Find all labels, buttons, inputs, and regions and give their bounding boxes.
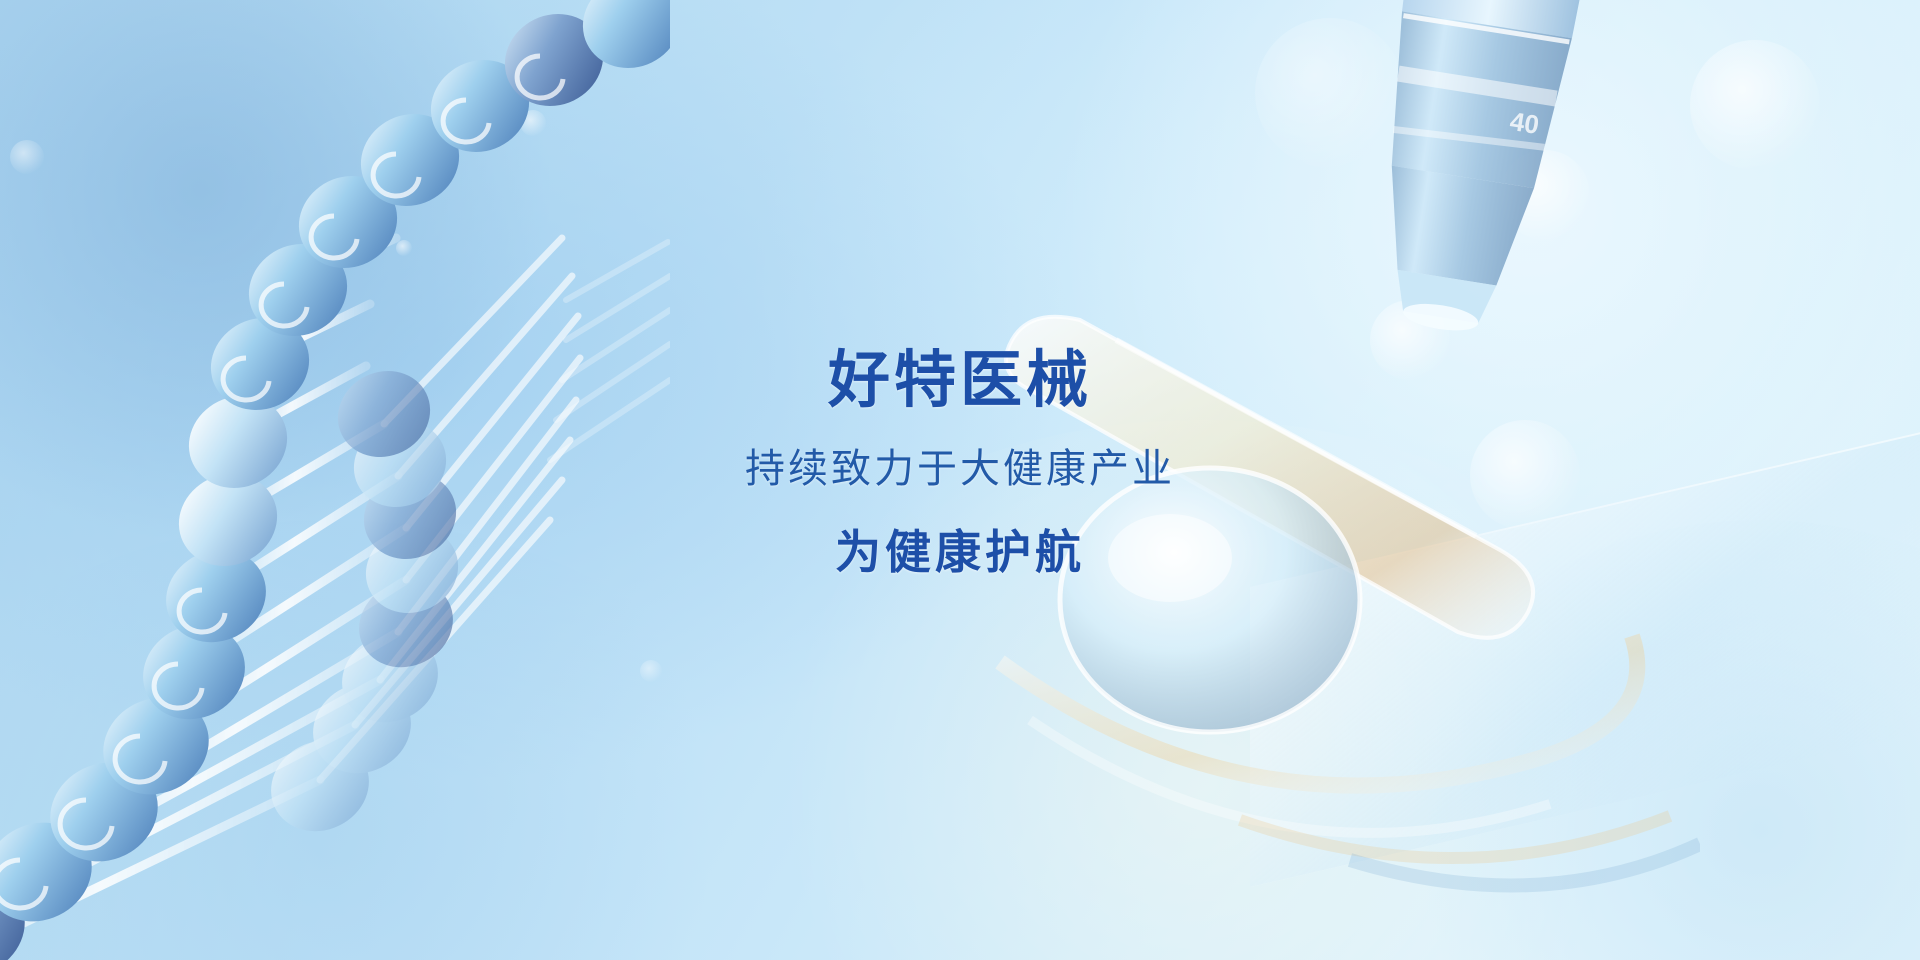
dna-helix-icon bbox=[0, 0, 670, 960]
hero-banner: 40 好特医械 持续致力于大健康产业 为健康护航 bbox=[0, 0, 1920, 960]
lab-glassware-icon bbox=[880, 300, 1700, 920]
bokeh-dot bbox=[1690, 40, 1820, 170]
microscope-magnification-label: 40 bbox=[1508, 106, 1541, 140]
